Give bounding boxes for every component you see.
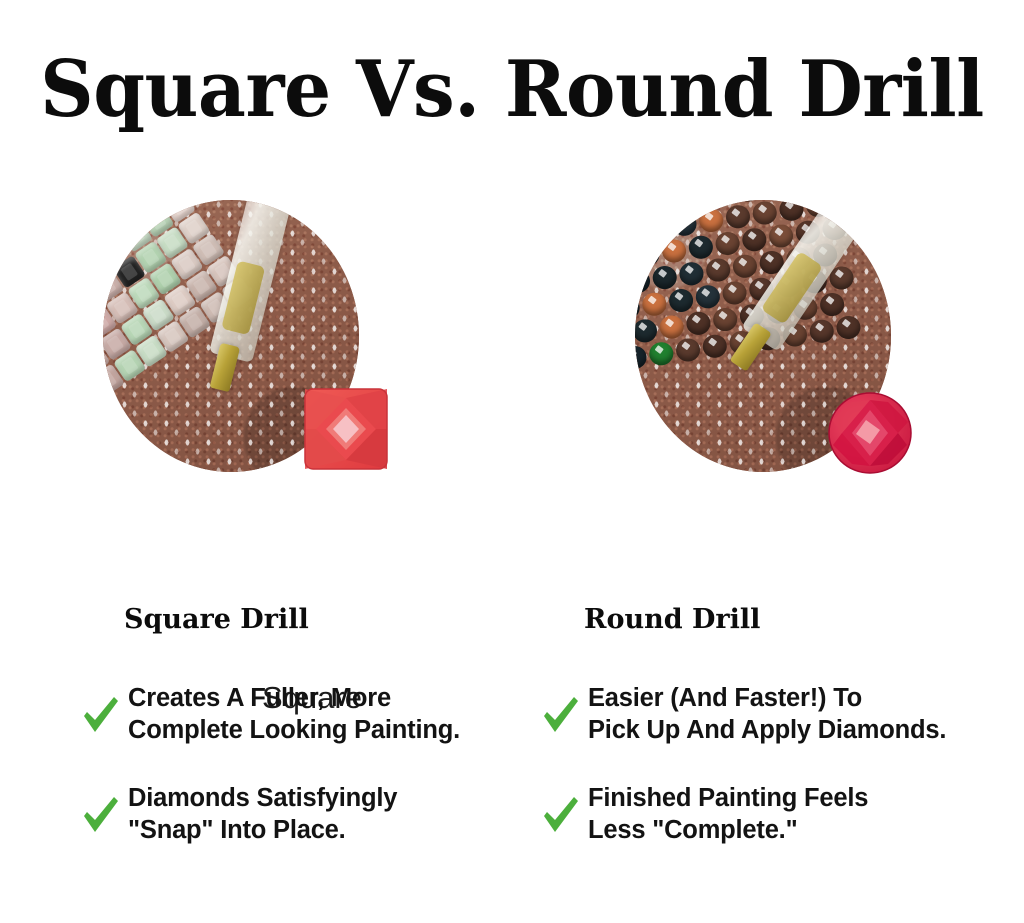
square-photo-block: Square xyxy=(78,196,438,486)
square-benefit-2: Diamonds Satisfyingly "Snap" Into Place. xyxy=(128,782,397,846)
round-drill-column: Round Drill Easier (And Faster!) To Pick… xyxy=(540,604,970,882)
list-item: Diamonds Satisfyingly "Snap" Into Place. xyxy=(80,782,510,846)
square-gem xyxy=(304,388,388,470)
photo-comparison-row: Square xyxy=(0,196,1024,486)
round-photo-block: Round xyxy=(610,196,970,486)
square-drill-column: Square Drill Creates A Fuller, More Comp… xyxy=(80,604,510,882)
check-icon xyxy=(540,692,580,736)
list-item: Easier (And Faster!) To Pick Up And Appl… xyxy=(540,682,970,746)
round-benefit-2: Finished Painting Feels Less "Complete." xyxy=(588,782,868,846)
check-icon xyxy=(80,692,120,736)
list-item: Creates A Fuller, More Complete Looking … xyxy=(80,682,510,746)
square-benefit-1: Creates A Fuller, More Complete Looking … xyxy=(128,682,460,746)
check-icon xyxy=(80,792,120,836)
page-title: Square Vs. Round Drill xyxy=(26,48,999,132)
square-drill-heading: Square Drill xyxy=(124,604,510,636)
round-benefit-1: Easier (And Faster!) To Pick Up And Appl… xyxy=(588,682,946,746)
check-icon xyxy=(540,792,580,836)
round-gem xyxy=(828,392,912,474)
round-drill-heading: Round Drill xyxy=(584,604,970,636)
list-item: Finished Painting Feels Less "Complete." xyxy=(540,782,970,846)
